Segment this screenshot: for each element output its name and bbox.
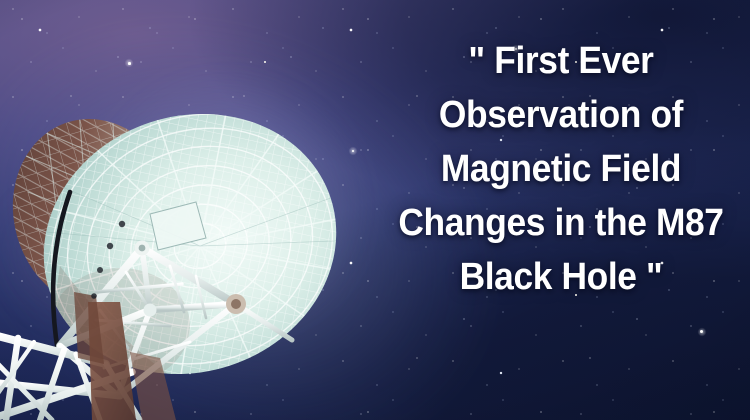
headline-text: " First Ever Observation of Magnetic Fie…	[385, 34, 737, 304]
headline-line-1: " First Ever	[385, 34, 737, 88]
headline-line-5: Black Hole "	[385, 250, 737, 304]
headline-line-2: Observation of	[385, 88, 737, 142]
banner-canvas: " First Ever Observation of Magnetic Fie…	[0, 0, 750, 420]
headline-line-4: Changes in the M87	[385, 196, 737, 250]
headline-line-3: Magnetic Field	[385, 142, 737, 196]
radio-telescope-illustration	[0, 96, 370, 420]
